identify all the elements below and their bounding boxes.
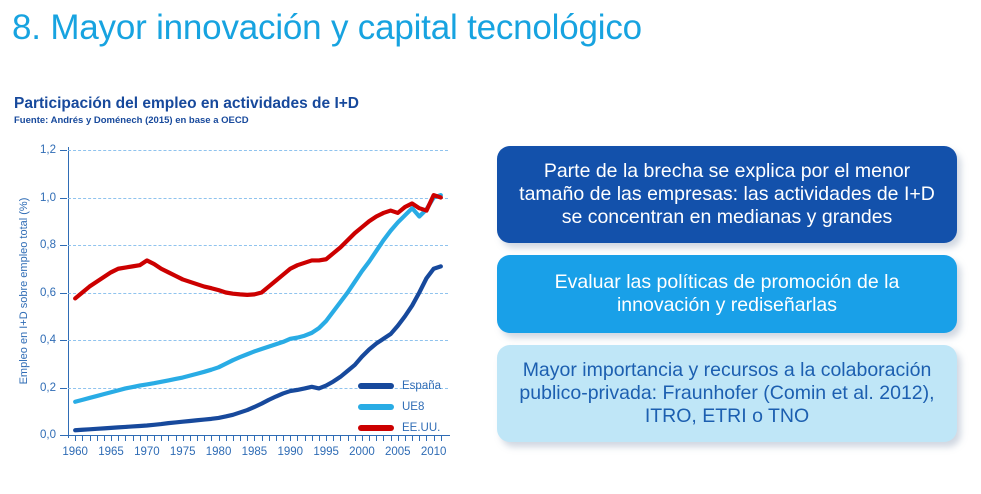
x-tick — [190, 435, 191, 441]
y-tick-label: 0,6 — [40, 287, 56, 299]
x-tick — [348, 435, 349, 441]
legend-label: UE8 — [402, 401, 424, 413]
chart-legend: EspañaUE8EE.UU. — [358, 375, 441, 438]
x-tick — [111, 435, 112, 441]
y-tick — [60, 340, 67, 341]
x-tick — [305, 435, 306, 441]
legend-label: EE.UU. — [402, 422, 440, 434]
x-tick-label: 1980 — [206, 446, 232, 458]
x-tick-label: 1985 — [242, 446, 268, 458]
y-tick-label: 0,8 — [40, 239, 56, 251]
callout-box-2[interactable]: Evaluar las políticas de promoción de la… — [497, 255, 957, 333]
y-tick — [60, 293, 67, 294]
y-tick-label: 0,0 — [40, 429, 56, 441]
legend-item[interactable]: UE8 — [358, 396, 441, 417]
y-axis-title: Empleo en I+D sobre empleo total (%) — [18, 181, 30, 401]
chart-title: Participación del empleo en actividades … — [14, 95, 359, 113]
x-tick-label: 1965 — [98, 446, 124, 458]
x-tick — [125, 435, 126, 441]
chart-panel: Participación del empleo en actividades … — [0, 95, 480, 490]
x-tick — [82, 435, 83, 441]
x-tick — [333, 435, 334, 441]
callout-box-3[interactable]: Mayor importancia y recursos a la colabo… — [497, 345, 957, 442]
x-tick-label: 1970 — [134, 446, 160, 458]
series-line-ue8 — [75, 195, 441, 402]
legend-item[interactable]: EE.UU. — [358, 417, 441, 438]
x-tick — [197, 435, 198, 441]
y-tick — [60, 245, 67, 246]
callout-list: Parte de la brecha se explica por el men… — [497, 146, 957, 442]
x-tick — [254, 435, 255, 441]
chart-plot-wrapper: Empleo en I+D sobre empleo total (%) 0,0… — [0, 135, 480, 490]
x-tick — [161, 435, 162, 441]
series-line-ee-uu — [75, 195, 441, 298]
x-tick — [283, 435, 284, 441]
x-tick-label: 1995 — [313, 446, 339, 458]
x-tick — [312, 435, 313, 441]
x-tick — [276, 435, 277, 441]
legend-swatch-ue8 — [358, 404, 394, 410]
legend-swatch-espa-a — [358, 383, 394, 389]
x-tick — [90, 435, 91, 441]
x-tick — [183, 435, 184, 441]
x-tick — [290, 435, 291, 441]
y-tick — [60, 198, 67, 199]
y-tick-label: 1,0 — [40, 192, 56, 204]
x-tick — [154, 435, 155, 441]
x-tick-label: 1990 — [277, 446, 303, 458]
callout-text-1: Parte de la brecha se explica por el men… — [511, 160, 943, 228]
x-tick-label: 2010 — [421, 446, 447, 458]
plot-area: 0,00,20,40,60,81,01,2 196019651970197519… — [68, 150, 448, 435]
x-tick — [340, 435, 341, 441]
callout-text-3: Mayor importancia y recursos a la colabo… — [511, 359, 943, 427]
y-tick — [60, 150, 67, 151]
x-tick — [140, 435, 141, 441]
callout-box-1[interactable]: Parte de la brecha se explica por el men… — [497, 146, 957, 243]
legend-item[interactable]: España — [358, 375, 441, 396]
x-tick-label: 2000 — [349, 446, 375, 458]
y-tick-label: 0,2 — [40, 382, 56, 394]
x-tick-label: 2005 — [385, 446, 411, 458]
x-tick — [269, 435, 270, 441]
legend-swatch-ee-uu — [358, 425, 394, 431]
x-tick — [355, 435, 356, 441]
x-tick — [226, 435, 227, 441]
x-tick — [97, 435, 98, 441]
x-tick-label: 1960 — [62, 446, 88, 458]
legend-label: España — [402, 380, 441, 392]
x-tick — [233, 435, 234, 441]
x-tick — [240, 435, 241, 441]
x-tick — [247, 435, 248, 441]
chart-source: Fuente: Andrés y Doménech (2015) en base… — [14, 115, 249, 126]
x-tick — [118, 435, 119, 441]
x-tick — [104, 435, 105, 441]
x-tick — [319, 435, 320, 441]
callout-text-2: Evaluar las políticas de promoción de la… — [511, 271, 943, 317]
x-tick — [297, 435, 298, 441]
y-tick — [60, 435, 67, 436]
x-tick — [147, 435, 148, 441]
slide: 8. Mayor innovación y capital tecnológic… — [0, 0, 981, 494]
page-title: 8. Mayor innovación y capital tecnológic… — [12, 8, 642, 48]
x-tick — [176, 435, 177, 441]
x-tick-label: 1975 — [170, 446, 196, 458]
x-tick — [219, 435, 220, 441]
x-tick — [168, 435, 169, 441]
x-tick — [326, 435, 327, 441]
x-tick — [211, 435, 212, 441]
x-tick — [204, 435, 205, 441]
y-tick — [60, 388, 67, 389]
y-tick-label: 1,2 — [40, 144, 56, 156]
y-tick-label: 0,4 — [40, 334, 56, 346]
x-tick — [75, 435, 76, 441]
x-tick — [133, 435, 134, 441]
x-tick — [262, 435, 263, 441]
